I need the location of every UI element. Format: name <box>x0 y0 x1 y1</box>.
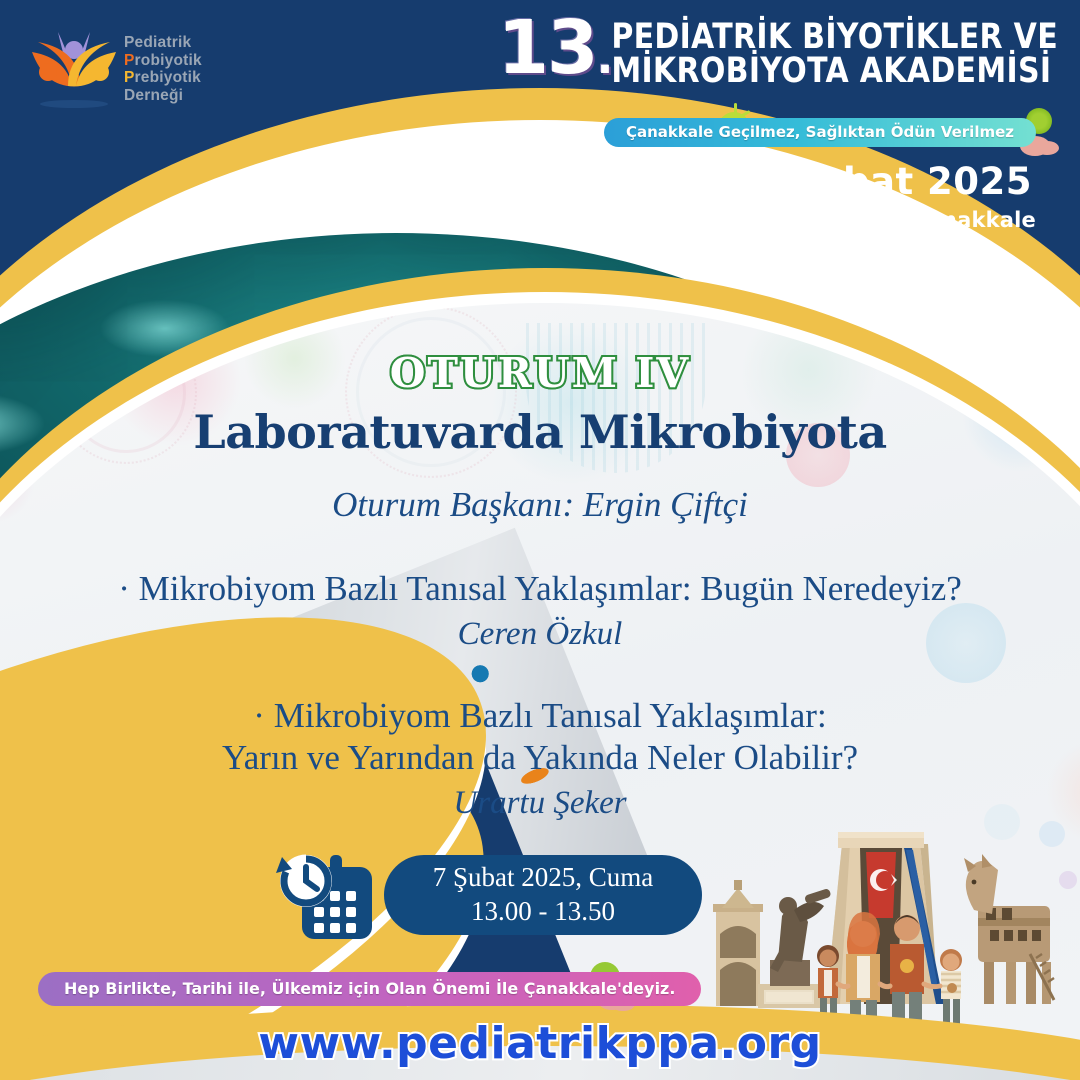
talk-speaker: Ceren Özkul <box>0 616 1080 653</box>
canakkale-martyrs-memorial-scene <box>700 788 1080 1038</box>
bubble <box>1039 821 1065 847</box>
schedule-pill: 7 Şubat 2025, Cuma 13.00 - 13.50 <box>384 855 702 935</box>
stone-arch-tower <box>713 880 763 1006</box>
event-title-block: 13. PEDİATRİK BİYOTİKLER VE MİKROBİYOTA … <box>498 14 1058 85</box>
session-title: Laboratuvarda Mikrobiyota <box>0 405 1080 459</box>
edition-number: 13. <box>498 14 612 82</box>
talk-item: · Mikrobiyom Bazlı Tanısal Yaklaşımlar: … <box>0 695 1080 822</box>
talk-title: · Mikrobiyom Bazlı Tanısal Yaklaşımlar: … <box>0 568 1080 610</box>
society-logo[interactable]: Pediatrik Probiyotik Prebiyotik Derneği <box>28 18 278 118</box>
event-title-line-2: MİKROBİYOTA AKADEMİSİ <box>611 52 1058 91</box>
talk-item: · Mikrobiyom Bazlı Tanısal Yaklaşımlar: … <box>0 568 1080 653</box>
website-url[interactable]: www.pediatrikppa.org <box>0 1018 1080 1069</box>
conference-session-poster: Pediatrik Probiyotik Prebiyotik Derneği … <box>0 0 1080 1080</box>
society-logo-text: Pediatrik Probiyotik Prebiyotik Derneği <box>124 34 202 105</box>
trojan-horse <box>964 854 1054 1004</box>
logo-line-1: Pediatrik <box>124 34 202 52</box>
schedule-badge: 7 Şubat 2025, Cuma 13.00 - 13.50 <box>272 845 702 945</box>
header-slogan-badge: Çanakkale Geçilmez, Sağlıktan Ödün Veril… <box>604 118 1036 147</box>
footer-slogan-badge: Hep Birlikte, Tarihi ile, Ülkemiz için O… <box>38 972 701 1006</box>
bubble <box>1059 871 1077 889</box>
schedule-time: 13.00 - 13.50 <box>471 895 615 929</box>
logo-line-4: Derneği <box>124 87 202 105</box>
calendar-clock-icon <box>272 851 382 943</box>
talk-title: · Mikrobiyom Bazlı Tanısal Yaklaşımlar: … <box>0 695 1080 779</box>
logo-line-2: Probiyotik <box>124 52 202 70</box>
logo-line-3: Prebiyotik <box>124 69 202 87</box>
society-logo-icon <box>28 22 120 114</box>
talk-speaker: Urartu Şeker <box>0 785 1080 822</box>
session-chair: Oturum Başkanı: Ergin Çiftçi <box>0 485 1080 525</box>
event-venue: Double Tree by Hilton, Çanakkale <box>636 208 1036 232</box>
session-label: OTURUM IV <box>0 349 1080 397</box>
canakkale-martyrs-memorial <box>826 832 944 1004</box>
event-date: 6-9 Şubat 2025 <box>707 160 1032 203</box>
schedule-date: 7 Şubat 2025, Cuma <box>433 861 654 895</box>
